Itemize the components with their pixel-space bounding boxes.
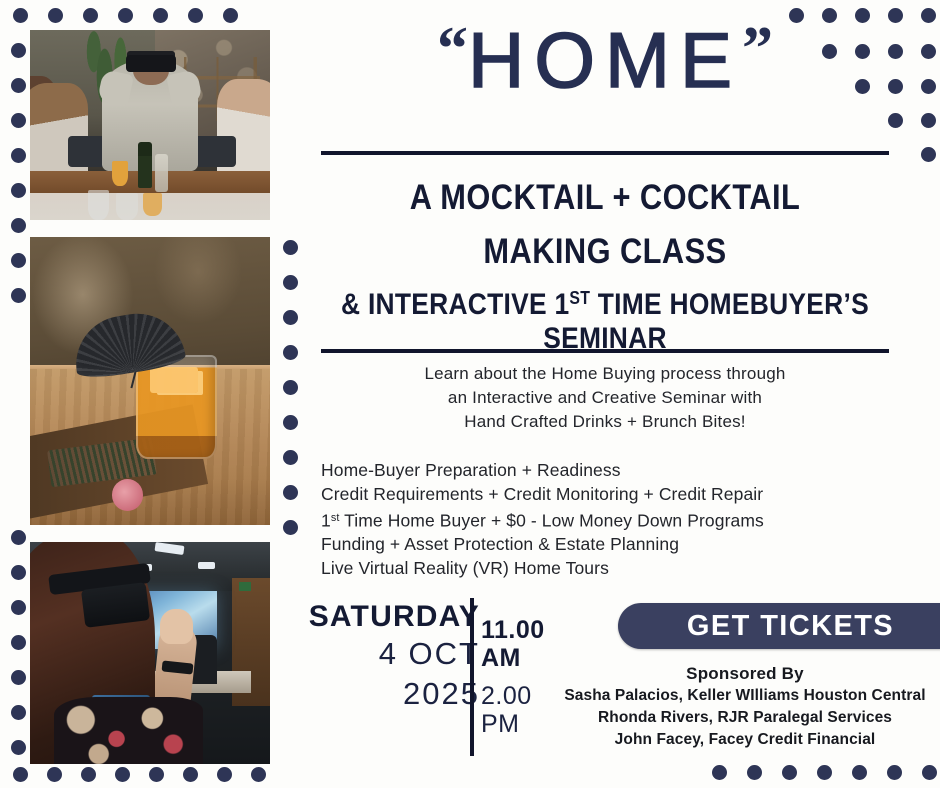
subtitle-line-3: & INTERACTIVE 1ST TIME HOMEBUYER’S SEMIN… xyxy=(341,288,869,356)
list-item: Home-Buyer Preparation + Readiness xyxy=(321,458,881,482)
list-item-text: Time Home Buyer + $0 - Low Money Down Pr… xyxy=(339,510,763,530)
event-date: 4 OCT xyxy=(305,634,480,674)
subtitle-ordinal-suffix: ST xyxy=(569,288,590,308)
photo-cocktail-umbrella xyxy=(30,237,270,525)
description-line-1: Learn about the Home Buying process thro… xyxy=(305,362,905,386)
get-tickets-label: GET TICKETS xyxy=(687,610,894,643)
topic-list: Home-Buyer Preparation + Readiness Credi… xyxy=(321,458,881,580)
event-weekday: SATURDAY xyxy=(305,600,480,634)
sponsor-item: John Facey, Facey Credit Financial xyxy=(550,729,940,751)
sponsors-heading: Sponsored By xyxy=(550,662,940,685)
subtitle-line-1: A MOCKTAIL + COCKTAIL xyxy=(341,178,869,218)
date-time-divider xyxy=(470,598,474,756)
event-time-block: 11.00 AM 2.00 PM xyxy=(481,616,561,738)
event-year: 2025 xyxy=(305,674,480,714)
list-item: Funding + Asset Protection & Estate Plan… xyxy=(321,532,881,556)
get-tickets-button[interactable]: GET TICKETS xyxy=(618,603,940,649)
subtitle-line-3-pre: & INTERACTIVE 1 xyxy=(341,288,569,321)
sponsors-block: Sponsored By Sasha Palacios, Keller WIll… xyxy=(550,662,940,751)
divider-top xyxy=(321,151,889,155)
close-quote: ” xyxy=(742,15,773,83)
description-line-2: an Interactive and Creative Seminar with xyxy=(305,386,905,410)
list-item: 1st Time Home Buyer + $0 - Low Money Dow… xyxy=(321,506,881,532)
event-date-block: SATURDAY 4 OCT 2025 xyxy=(305,600,480,714)
event-description: Learn about the Home Buying process thro… xyxy=(305,362,905,434)
divider-bottom xyxy=(321,349,889,353)
photo-vr-dinner-group xyxy=(30,30,270,220)
title-text: HOME xyxy=(468,16,742,104)
list-item: Live Virtual Reality (VR) Home Tours xyxy=(321,556,881,580)
event-end-time: 2.00 PM xyxy=(481,682,561,738)
subtitle-line-2: MAKING CLASS xyxy=(341,232,869,272)
list-item: Credit Requirements + Credit Monitoring … xyxy=(321,482,881,506)
event-start-time: 11.00 AM xyxy=(481,616,561,672)
list-item-ordinal: 1 xyxy=(321,510,331,530)
sponsor-item: Rhonda Rivers, RJR Paralegal Services xyxy=(550,707,940,729)
event-flyer: “HOME” A MOCKTAIL + COCKTAIL MAKING CLAS… xyxy=(0,0,940,788)
open-quote: “ xyxy=(437,15,468,83)
sponsor-item: Sasha Palacios, Keller WIlliams Houston … xyxy=(550,685,940,707)
flyer-title: “HOME” xyxy=(305,18,905,99)
description-line-3: Hand Crafted Drinks + Brunch Bites! xyxy=(305,410,905,434)
subtitle-line-3-post: TIME HOMEBUYER’S SEMINAR xyxy=(543,288,869,355)
photo-vr-seminar-room xyxy=(30,542,270,764)
